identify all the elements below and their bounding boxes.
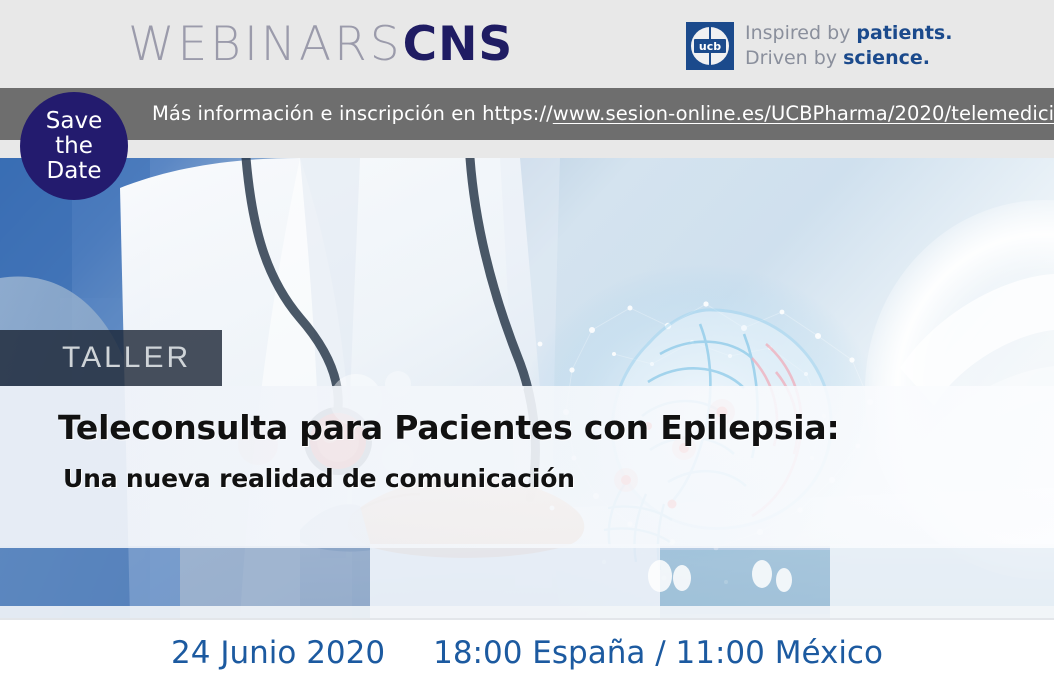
registration-info-text: Más información e inscripción en https:/…	[152, 88, 1054, 140]
footer-bar: 24 Junio 2020 18:00 España / 11:00 Méxic…	[0, 618, 1054, 687]
ucb-tagline-line1-plain: Inspired by	[745, 22, 856, 44]
info-bar-spacer	[0, 140, 1054, 158]
ucb-logo-icon: ucb	[686, 22, 734, 70]
info-bar: Más información e inscripción en https:/…	[0, 88, 1054, 140]
ucb-tagline-line-2: Driven by science.	[745, 46, 952, 71]
save-badge-line-3: Date	[47, 159, 102, 184]
brand-cns-text: CNS	[403, 17, 514, 72]
ucb-logo-block: ucb Inspired by patients. Driven by scie…	[686, 21, 952, 71]
title-panel: Teleconsulta para Pacientes con Epilepsi…	[0, 386, 1054, 548]
webinar-poster: WEBINARSCNS ucb Inspired by patients. Dr…	[0, 0, 1054, 687]
webinar-title: Teleconsulta para Pacientes con Epilepsi…	[58, 408, 839, 447]
category-banner-label: TALLER	[62, 330, 191, 386]
svg-text:ucb: ucb	[699, 40, 721, 53]
footer-content: 24 Junio 2020 18:00 España / 11:00 Méxic…	[0, 618, 1054, 687]
save-badge-line-2: the	[55, 134, 93, 159]
category-banner: TALLER	[0, 330, 222, 386]
header-bar: WEBINARSCNS ucb Inspired by patients. Dr…	[0, 0, 1054, 88]
brand-wordmark: WEBINARSCNS	[128, 15, 513, 74]
event-date: 24 Junio 2020	[171, 635, 385, 671]
registration-info-prefix: Más información e inscripción en https:/…	[152, 102, 553, 125]
event-time: 18:00 España / 11:00 México	[433, 635, 883, 671]
ucb-tagline-line2-plain: Driven by	[745, 47, 843, 69]
ucb-tagline-line-1: Inspired by patients.	[745, 21, 952, 46]
registration-url-link[interactable]: www.sesion-online.es/UCBPharma/2020/tele…	[553, 102, 1054, 125]
brand-webinars-text: WEBINARS	[128, 17, 403, 72]
ucb-tagline: Inspired by patients. Driven by science.	[745, 21, 952, 71]
ucb-tagline-line2-bold: science.	[843, 47, 930, 69]
ucb-tagline-line1-bold: patients.	[856, 22, 952, 44]
webinar-subtitle: Una nueva realidad de comunicación	[63, 464, 575, 493]
save-the-date-badge: Save the Date	[20, 92, 128, 200]
save-badge-line-1: Save	[46, 109, 102, 134]
